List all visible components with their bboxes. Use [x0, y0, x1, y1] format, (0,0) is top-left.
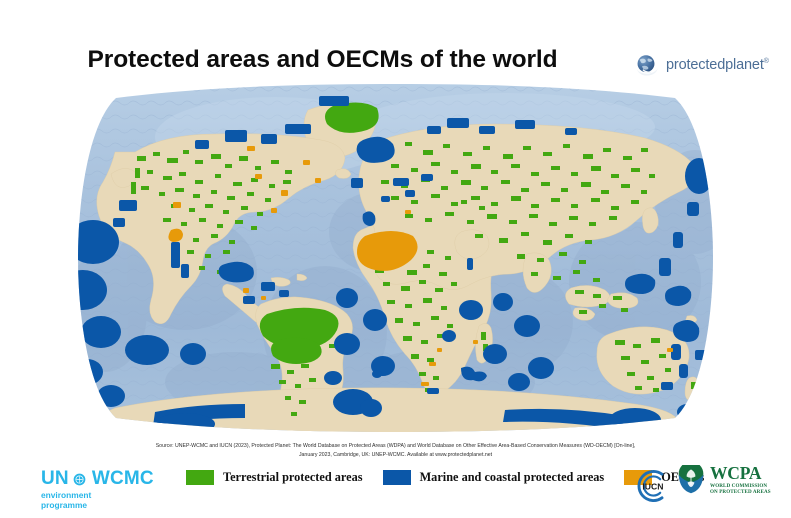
- globe-icon: [633, 52, 659, 78]
- iucn-circle-icon: IUCN: [632, 466, 672, 506]
- iucn-logo: IUCN: [632, 466, 672, 506]
- source-line-2: January 2023, Cambridge, UK: UNEP-WCMC. …: [0, 451, 791, 460]
- brand-name: protectedplanet: [666, 57, 764, 73]
- page-title: Protected areas and OECMs of the world: [0, 46, 645, 74]
- wcpa-subtitle-line-1: WORLD COMMISSION: [710, 484, 771, 489]
- wcpa-logo: WCPA WORLD COMMISSION ON PROTECTED AREAS: [676, 465, 771, 495]
- blue-swatch: [383, 470, 411, 485]
- wcpa-acronym: WCPA: [710, 465, 771, 483]
- unep-un-text: UN: [41, 468, 69, 490]
- wcpa-subtitle-line-2: ON PROTECTED AREAS: [710, 490, 771, 495]
- legend-label-terrestrial: Terrestrial protected areas: [223, 470, 363, 485]
- world-map: [75, 82, 716, 434]
- protectedplanet-logo: protectedplanet®: [633, 52, 769, 78]
- protectedplanet-wordmark: protectedplanet®: [666, 57, 769, 73]
- world-map-graphic: [75, 82, 716, 434]
- source-line-1: Source: UNEP-WCMC and IUCN (2023), Prote…: [0, 442, 791, 451]
- poster-root: Protected areas and OECMs of the world p…: [0, 0, 791, 518]
- green-swatch: [186, 470, 214, 485]
- unep-subtitle-line-1: environment: [41, 491, 154, 500]
- map-legend: Terrestrial protected areas Marine and c…: [186, 470, 704, 485]
- source-citation: Source: UNEP-WCMC and IUCN (2023), Prote…: [0, 442, 791, 459]
- legend-item-marine: Marine and coastal protected areas: [383, 470, 605, 485]
- unep-subtitle-line-2: programme: [41, 501, 154, 510]
- iucn-label: IUCN: [642, 482, 663, 492]
- legend-item-terrestrial: Terrestrial protected areas: [186, 470, 363, 485]
- wcpa-emblem-icon: [676, 465, 706, 495]
- unep-laurel-icon: [73, 473, 86, 486]
- unep-wcmc-logo: UN WCMC environment programme: [41, 468, 154, 511]
- footer: UN WCMC environment programme Terrestria…: [0, 462, 791, 512]
- legend-label-marine: Marine and coastal protected areas: [420, 470, 605, 485]
- unep-wcmc-text: WCMC: [92, 468, 154, 490]
- trademark-symbol: ®: [764, 58, 769, 65]
